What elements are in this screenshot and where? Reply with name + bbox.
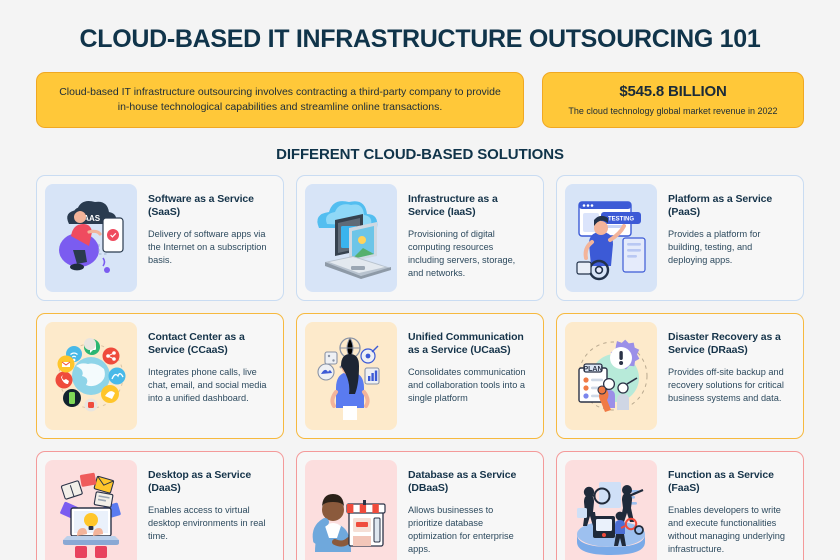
- paas-developer-screens-gear-icon: TESTING: [565, 184, 657, 292]
- card-title: Desktop as a Service (DaaS): [148, 469, 269, 495]
- card-body: Database as a Service (DBaaS) Allows bus…: [397, 460, 535, 560]
- card-body: Contact Center as a Service (CCaaS) Inte…: [137, 322, 275, 409]
- card-title: Unified Communication as a Service (UCaa…: [408, 331, 529, 357]
- draas-plan-gear-alert-icon: PLAN: [565, 322, 657, 430]
- card-description: Allows businesses to prioritize database…: [408, 504, 529, 557]
- solution-card-saas[interactable]: SAAS Software as a Service (SaaS): [36, 175, 284, 301]
- ccaas-globe-channel-icons-icon: [45, 322, 137, 430]
- card-body: Platform as a Service (PaaS) Provides a …: [657, 184, 795, 271]
- card-title: Infrastructure as a Service (IaaS): [408, 193, 529, 219]
- daas-laptop-documents-bulb-icon: [45, 460, 137, 560]
- card-description: Delivery of software apps via the Intern…: [148, 228, 269, 267]
- solution-card-daas[interactable]: Desktop as a Service (DaaS) Enables acce…: [36, 451, 284, 560]
- card-body: Software as a Service (SaaS) Delivery of…: [137, 184, 275, 271]
- card-title: Database as a Service (DBaaS): [408, 469, 529, 495]
- solution-card-draas[interactable]: PLAN Disaster Recovery as a Service (DRa…: [556, 313, 804, 439]
- infographic-page: CLOUD-BASED IT INFRASTRUCTURE OUTSOURCIN…: [0, 0, 840, 560]
- card-body: Infrastructure as a Service (IaaS) Provi…: [397, 184, 535, 284]
- solutions-grid: SAAS Software as a Service (SaaS): [0, 163, 840, 560]
- card-body: Disaster Recovery as a Service (DRaaS) P…: [657, 322, 795, 409]
- svg-text:TESTING: TESTING: [608, 217, 634, 223]
- faas-team-platform-gears-icon: [565, 460, 657, 560]
- svg-text:PLAN: PLAN: [583, 366, 602, 373]
- solution-card-dbaas[interactable]: Database as a Service (DBaaS) Allows bus…: [296, 451, 544, 560]
- card-description: Enables developers to write and execute …: [668, 504, 789, 557]
- saas-person-cloud-phone-icon: SAAS: [45, 184, 137, 292]
- dbaas-person-storefront-icon: [305, 460, 397, 560]
- card-description: Provides off-site backup and recovery so…: [668, 366, 789, 405]
- stat-value: $545.8 BILLION: [619, 83, 726, 101]
- card-body: Desktop as a Service (DaaS) Enables acce…: [137, 460, 275, 547]
- iaas-laptop-cloud-icon: [305, 184, 397, 292]
- stat-caption: The cloud technology global market reven…: [568, 106, 777, 118]
- intro-description-text: Cloud-based IT infrastructure outsourcin…: [55, 85, 505, 115]
- card-body: Unified Communication as a Service (UCaa…: [397, 322, 535, 409]
- card-description: Integrates phone calls, live chat, email…: [148, 366, 269, 405]
- solution-card-ucaas[interactable]: Unified Communication as a Service (UCaa…: [296, 313, 544, 439]
- solution-card-ccaas[interactable]: Contact Center as a Service (CCaaS) Inte…: [36, 313, 284, 439]
- solution-card-iaas[interactable]: Infrastructure as a Service (IaaS) Provi…: [296, 175, 544, 301]
- market-stat-banner: $545.8 BILLION The cloud technology glob…: [542, 72, 804, 129]
- section-title: DIFFERENT CLOUD-BASED SOLUTIONS: [0, 146, 840, 163]
- card-description: Provisioning of digital computing resour…: [408, 228, 529, 281]
- card-title: Function as a Service (FaaS): [668, 469, 789, 495]
- card-title: Platform as a Service (PaaS): [668, 193, 789, 219]
- page-title: CLOUD-BASED IT INFRASTRUCTURE OUTSOURCIN…: [0, 0, 840, 54]
- solution-card-faas[interactable]: Function as a Service (FaaS) Enables dev…: [556, 451, 804, 560]
- solution-card-paas[interactable]: TESTING Platform as a Service (PaaS): [556, 175, 804, 301]
- header-banner-row: Cloud-based IT infrastructure outsourcin…: [0, 54, 840, 129]
- card-description: Consolidates communication and collabora…: [408, 366, 529, 405]
- intro-description-banner: Cloud-based IT infrastructure outsourcin…: [36, 72, 524, 129]
- card-title: Contact Center as a Service (CCaaS): [148, 331, 269, 357]
- card-description: Enables access to virtual desktop enviro…: [148, 504, 269, 543]
- card-title: Disaster Recovery as a Service (DRaaS): [668, 331, 789, 357]
- card-title: Software as a Service (SaaS): [148, 193, 269, 219]
- card-description: Provides a platform for building, testin…: [668, 228, 789, 267]
- card-body: Function as a Service (FaaS) Enables dev…: [657, 460, 795, 560]
- ucaas-person-communication-icons-icon: [305, 322, 397, 430]
